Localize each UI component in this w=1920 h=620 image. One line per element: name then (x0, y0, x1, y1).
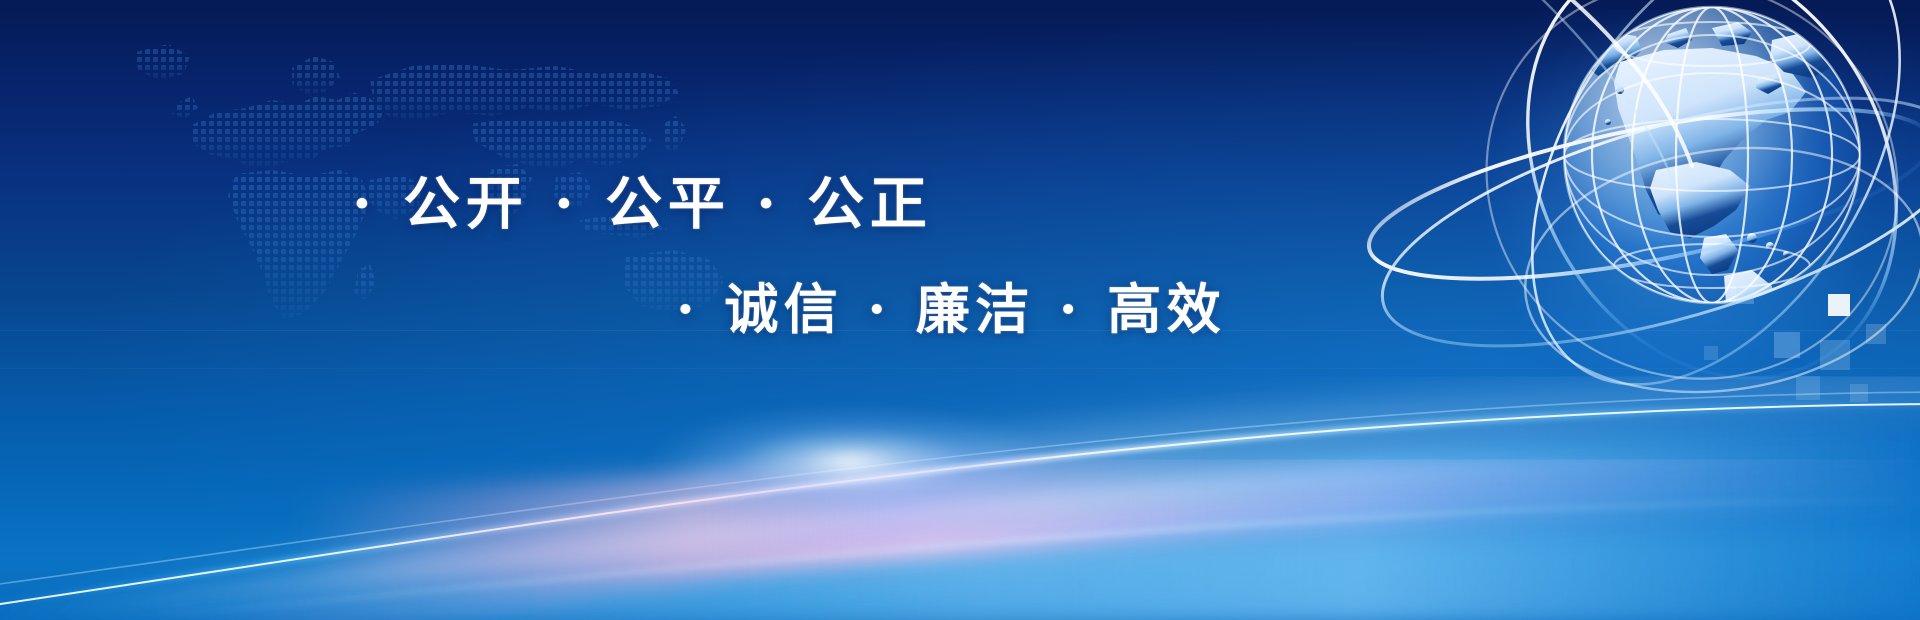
wave-pink-glow (298, 445, 1202, 585)
banner-hero: · 公开 · 公平 · 公正 · 诚信 · 廉洁 · 高效 (0, 0, 1920, 620)
slogan-block: · 公开 · 公平 · 公正 · 诚信 · 廉洁 · 高效 (0, 0, 1200, 400)
slogan-line-1: · 公开 · 公平 · 公正 (352, 175, 933, 232)
mosaic-squares (1700, 280, 1920, 440)
divider-line-upper (0, 330, 1920, 331)
aurora-light-waves (0, 320, 1920, 620)
dotted-world-map (40, 8, 800, 338)
wave-flare-highlight (640, 402, 1060, 522)
orbit-rings (1357, 0, 1920, 440)
wireframe-globe-icon (1320, 0, 1920, 440)
divider-line-lower (0, 368, 1920, 369)
slogan-line-2: · 诚信 · 廉洁 · 高效 (676, 282, 1226, 336)
globe-glow (1430, 10, 1910, 430)
